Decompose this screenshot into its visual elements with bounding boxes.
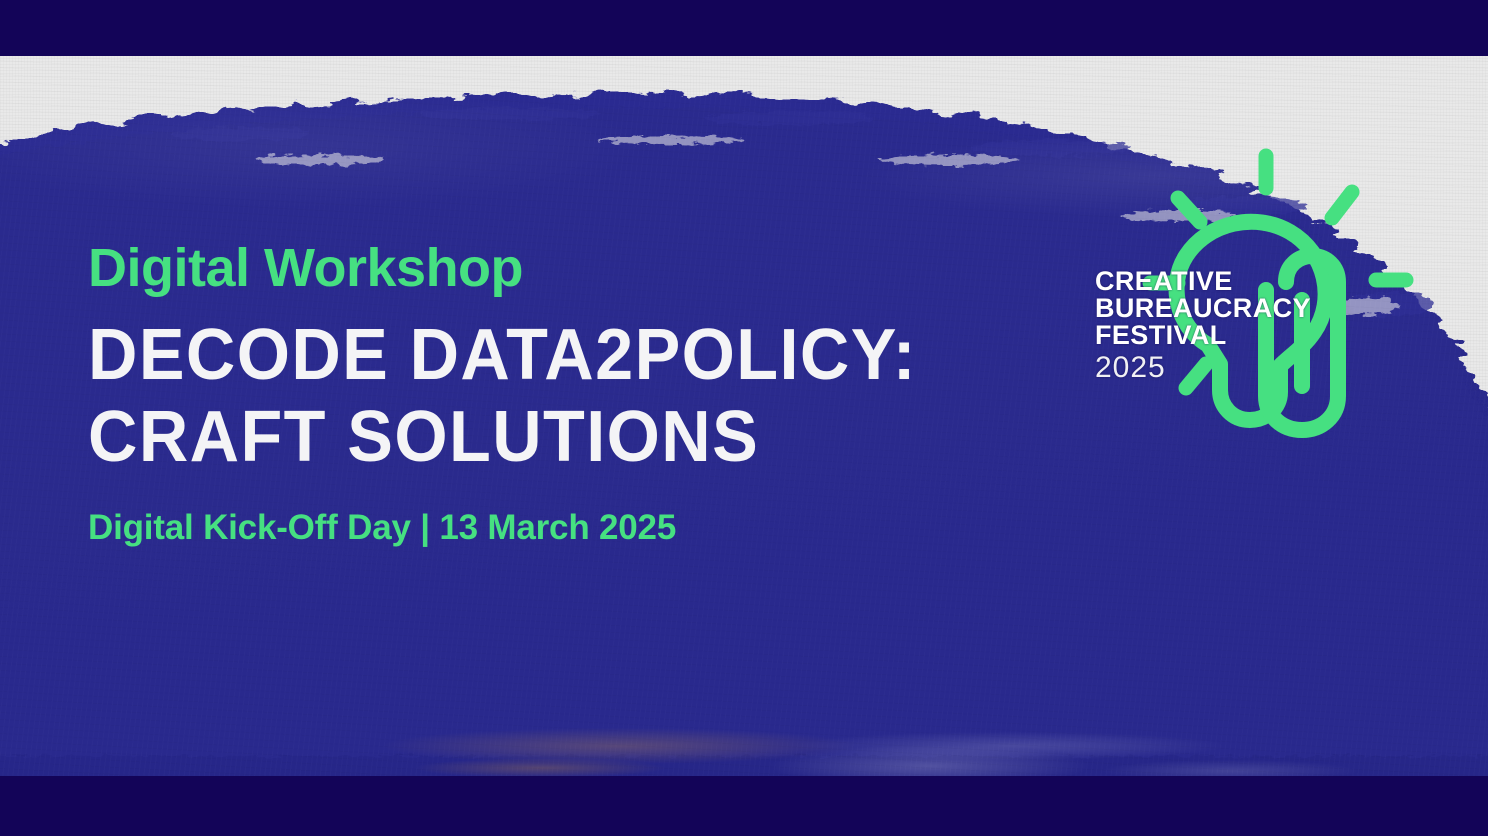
page-title-line-1: DECODE DATA2POLICY: <box>88 315 1038 396</box>
headline-block: Digital Workshop DECODE DATA2POLICY: CRA… <box>88 240 1088 548</box>
festival-logo: CREATIVE BUREAUCRACY FESTIVAL 2025 <box>1080 140 1440 440</box>
logo-year: 2025 <box>1095 353 1311 383</box>
logo-line-3: FESTIVAL <box>1095 322 1311 349</box>
page-title-line-2: CRAFT SOLUTIONS <box>88 397 1038 478</box>
event-date-label: Digital Kick-Off Day | 13 March 2025 <box>88 508 1088 548</box>
letterbox-bar-bottom <box>0 776 1488 836</box>
page-title: DECODE DATA2POLICY: CRAFT SOLUTIONS <box>88 315 1038 478</box>
festival-logo-wordmark: CREATIVE BUREAUCRACY FESTIVAL 2025 <box>1095 268 1311 383</box>
logo-line-1: CREATIVE <box>1095 268 1311 295</box>
slide-canvas: Digital Workshop DECODE DATA2POLICY: CRA… <box>0 0 1488 836</box>
eyebrow-label: Digital Workshop <box>88 240 1088 297</box>
letterbox-bar-top <box>0 0 1488 56</box>
logo-line-2: BUREAUCRACY <box>1095 295 1311 322</box>
